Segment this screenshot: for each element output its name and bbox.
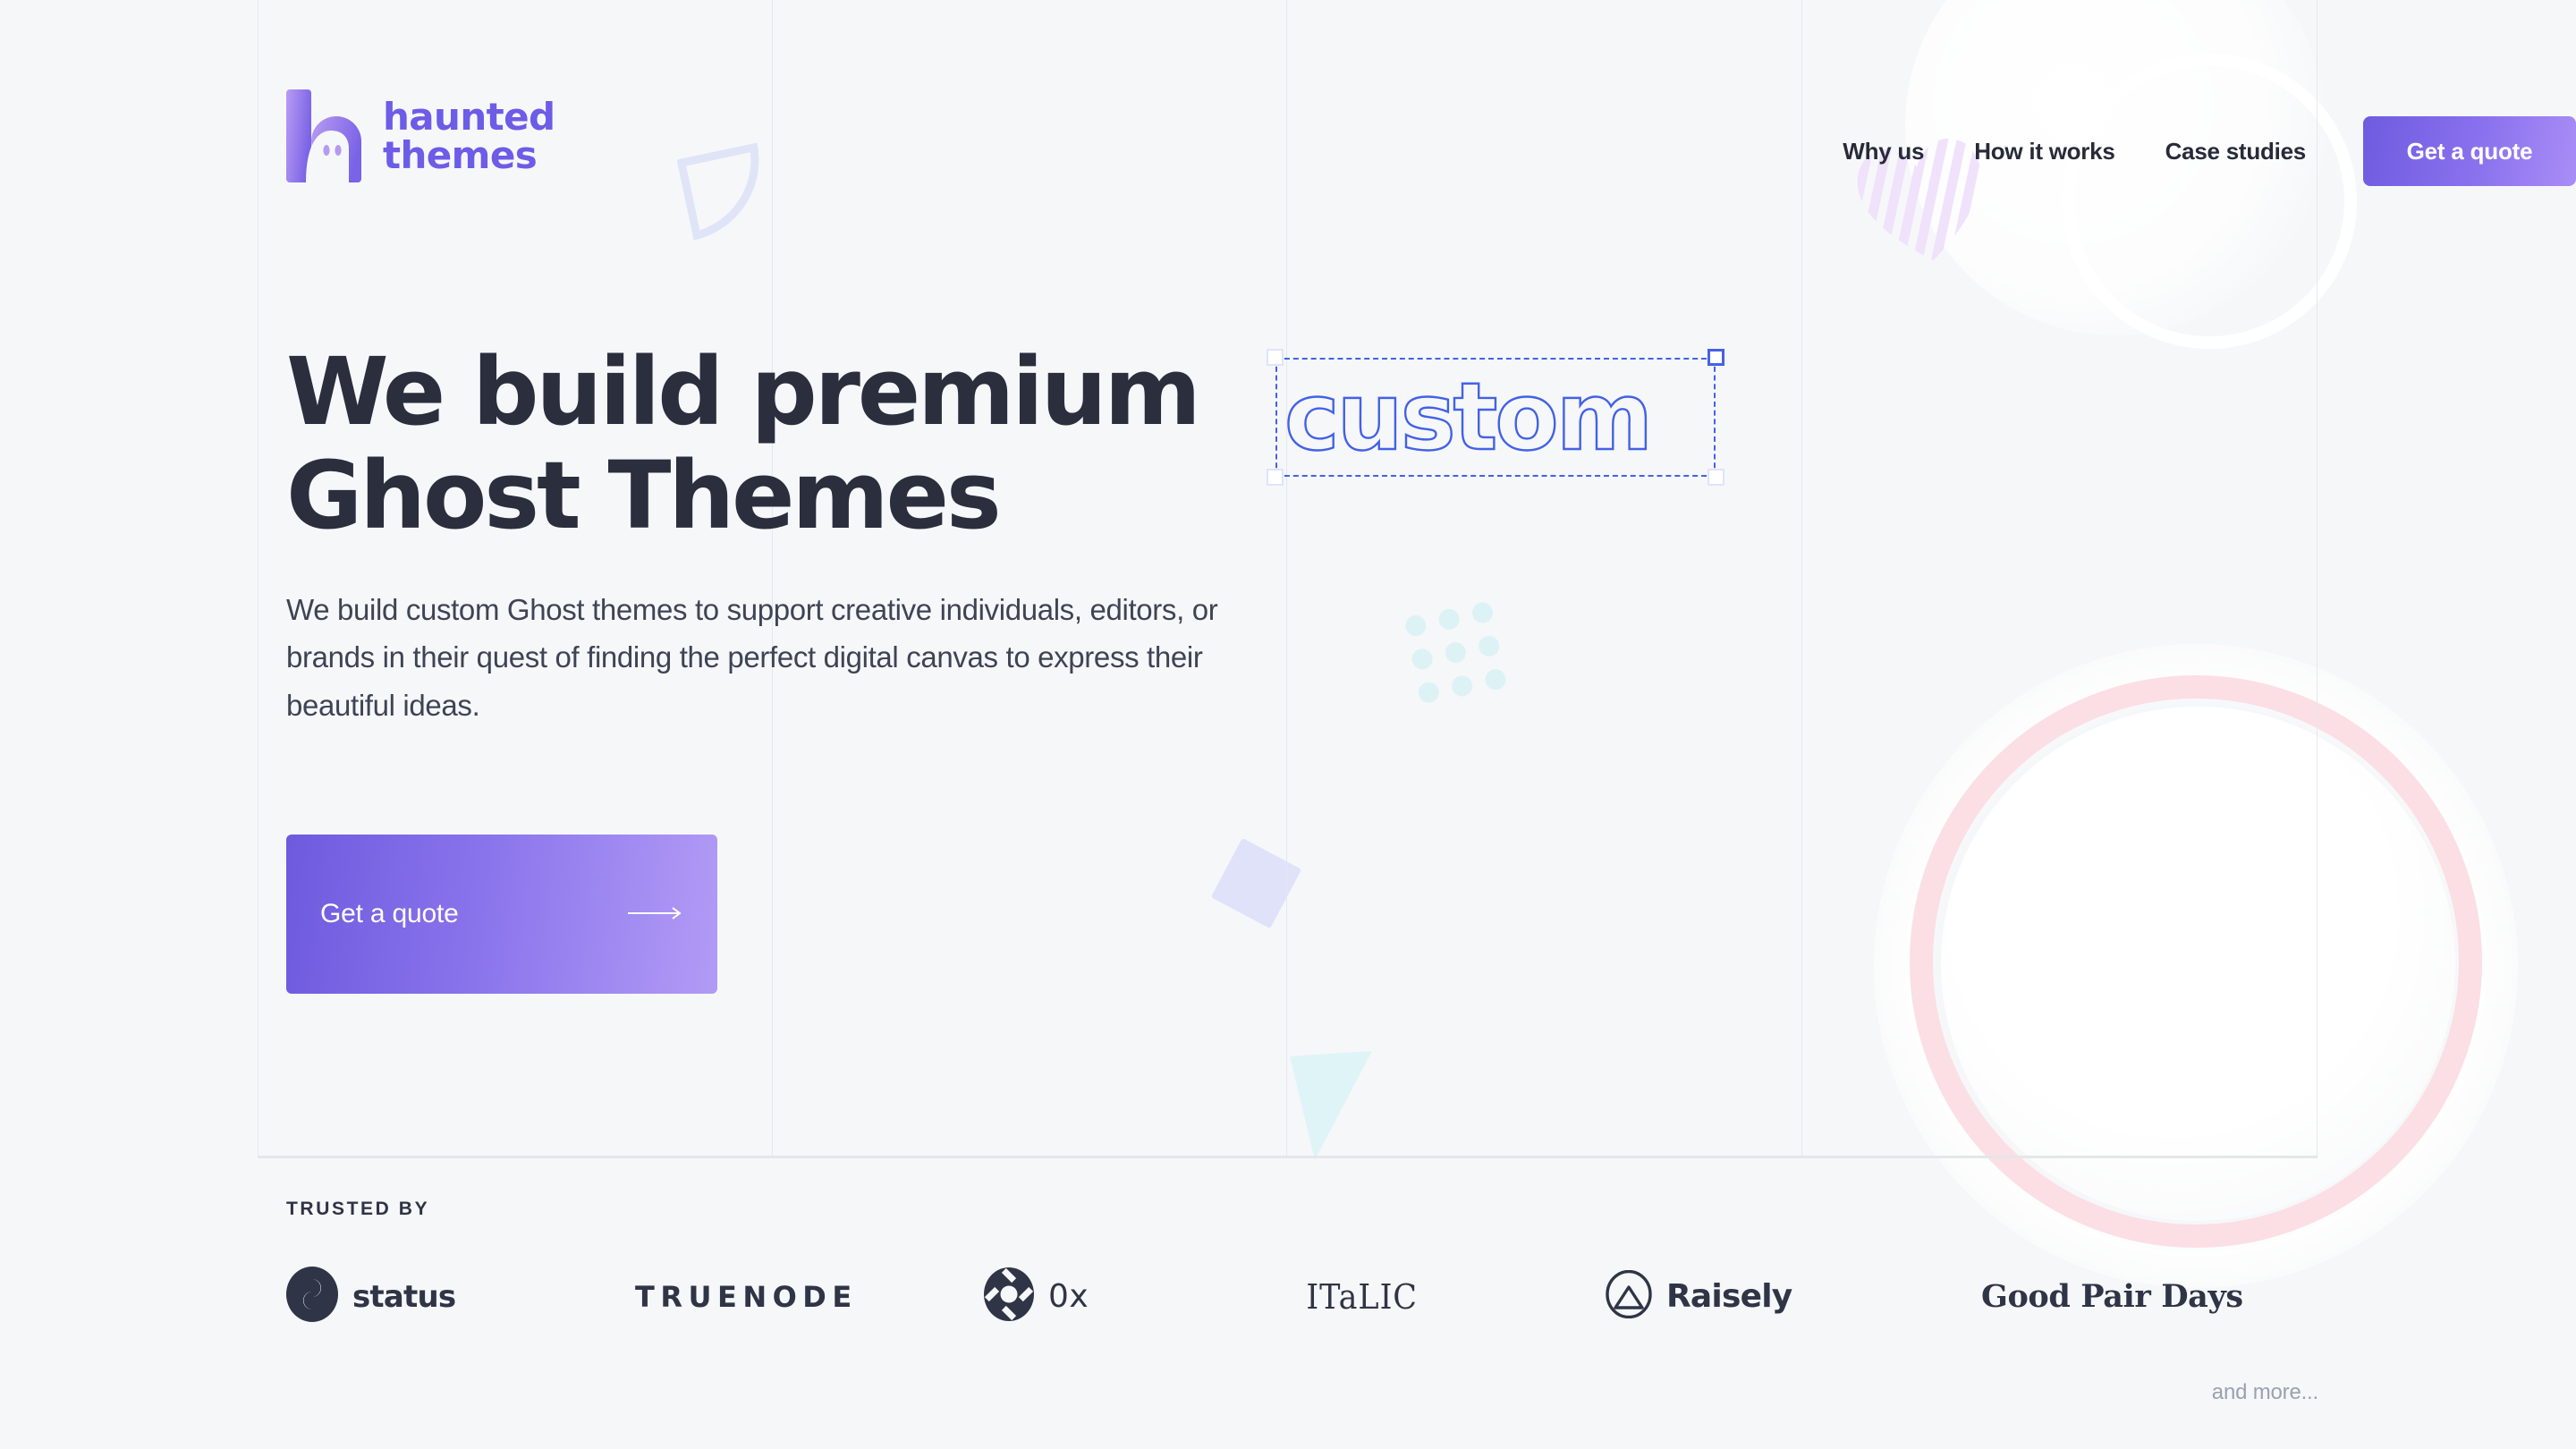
- main-navigation: Why us How it works Case studies Get a q…: [1818, 116, 2576, 186]
- pink-ring-inner-glow: [1941, 707, 2455, 1221]
- logo-truenode[interactable]: TRUENODE: [635, 1280, 984, 1314]
- page-root: haunted themes Why us How it works Case …: [0, 0, 2576, 1449]
- resize-handle-bottom-left[interactable]: [1267, 469, 1284, 486]
- brand-logo[interactable]: haunted themes: [286, 86, 555, 186]
- hero-title-line-1: We build premium: [286, 337, 1199, 446]
- brand-wordmark: haunted themes: [383, 97, 555, 175]
- arrow-right-long-icon: [628, 906, 683, 923]
- pink-ring-soft-glow: [1874, 644, 2518, 1288]
- ghost-h-logo-icon: [286, 86, 363, 186]
- logo-raisely[interactable]: Raisely: [1606, 1270, 1981, 1323]
- custom-outline-text: custom: [1284, 361, 1714, 474]
- logo-label-italic: ITaLIC: [1306, 1277, 1418, 1317]
- logo-label-0x: 0x: [1048, 1278, 1089, 1315]
- trusted-by-label: TRUSTED BY: [286, 1199, 2343, 1220]
- trusted-logo-row: status TRUENODE 0x: [286, 1267, 2299, 1326]
- hero-subtitle: We build custom Ghost themes to support …: [286, 586, 1243, 729]
- hero-get-a-quote-button[interactable]: Get a quote: [286, 835, 717, 994]
- logo-status[interactable]: status: [286, 1267, 635, 1326]
- hero-cta-label: Get a quote: [320, 899, 459, 929]
- logo-italic[interactable]: ITaLIC: [1301, 1277, 1606, 1317]
- nav-item-why-us[interactable]: Why us: [1818, 138, 1949, 165]
- site-header: haunted themes Why us How it works Case …: [0, 0, 2576, 233]
- logo-label-truenode: TRUENODE: [635, 1280, 858, 1314]
- logo-good-pair-days[interactable]: Good Pair Days: [1981, 1278, 2250, 1315]
- cyan-triangle-decor: [1290, 1051, 1372, 1160]
- resize-handle-bottom-right[interactable]: [1707, 469, 1724, 486]
- status-logo-icon: [286, 1267, 338, 1326]
- resize-handle-top-left[interactable]: [1267, 349, 1284, 366]
- logo-label-good-pair-days: Good Pair Days: [1981, 1278, 2243, 1315]
- and-more-label: and more...: [2212, 1380, 2318, 1405]
- nav-item-how-it-works[interactable]: How it works: [1949, 138, 2140, 165]
- resize-handle-top-right[interactable]: [1707, 349, 1724, 366]
- nav-item-case-studies[interactable]: Case studies: [2140, 138, 2331, 165]
- grid-line-bottom: [258, 1156, 2318, 1158]
- svg-text:custom: custom: [1284, 362, 1650, 471]
- logo-label-raisely: Raisely: [1666, 1278, 1792, 1315]
- logo-0x[interactable]: 0x: [984, 1267, 1301, 1326]
- pink-ring-decor: [1910, 675, 2482, 1248]
- header-get-a-quote-button[interactable]: Get a quote: [2363, 116, 2576, 186]
- raisely-logo-icon: [1606, 1270, 1652, 1323]
- 0x-logo-icon: [984, 1267, 1034, 1326]
- custom-word-selection[interactable]: custom: [1275, 358, 1716, 477]
- logo-label-status: status: [352, 1279, 455, 1315]
- trusted-by-section: TRUSTED BY status TRUENODE: [286, 1199, 2343, 1326]
